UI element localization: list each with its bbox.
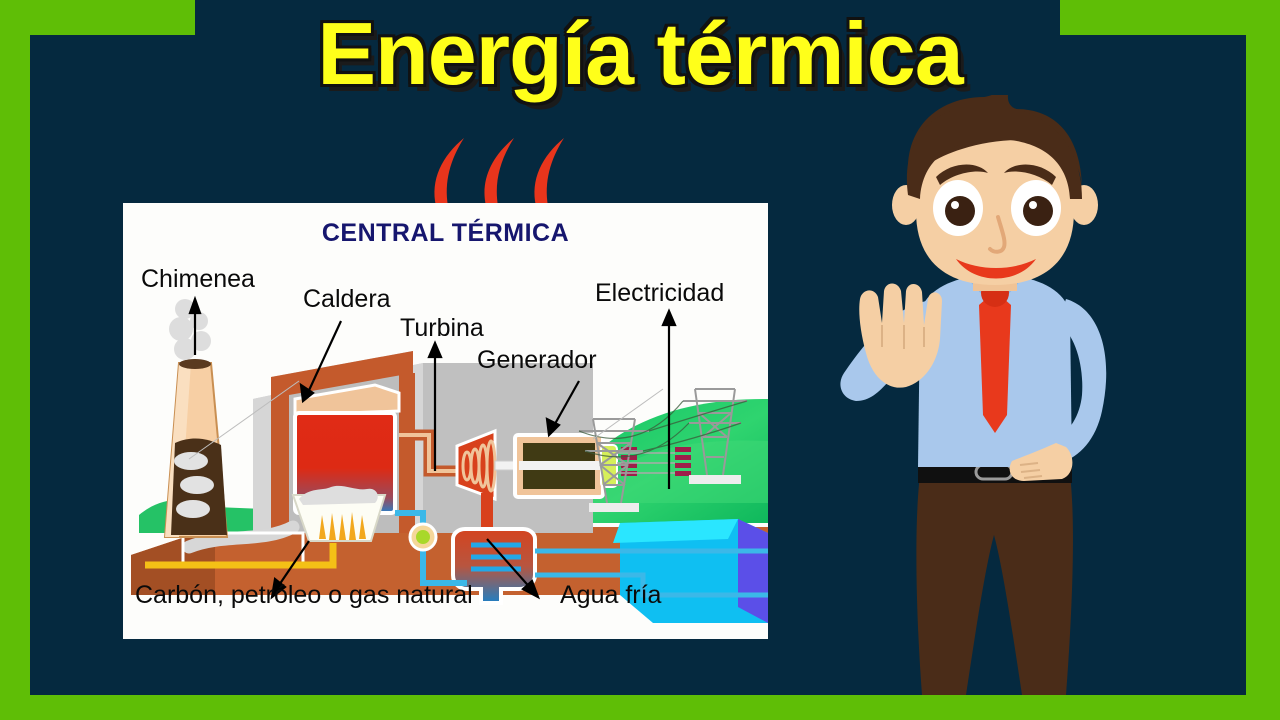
label-generador: Generador	[477, 348, 597, 373]
label-agua-fria: Agua fría	[560, 583, 661, 608]
page-title: Energía térmica	[0, 8, 1280, 100]
generator-rotor	[519, 461, 601, 470]
smoke-plume	[169, 299, 211, 360]
label-electricidad: Electricidad	[595, 281, 724, 306]
heat-wave-group	[428, 136, 588, 206]
heat-wave-icon	[484, 138, 514, 206]
diagram-heading: CENTRAL TÉRMICA	[123, 219, 768, 248]
heat-wave-icon	[434, 138, 464, 206]
tower-base	[689, 475, 741, 484]
thermal-plant-diagram: CENTRAL TÉRMICA Chimenea Caldera Turbina…	[123, 203, 768, 639]
pants	[916, 475, 1073, 695]
label-caldera: Caldera	[303, 287, 391, 312]
feed-pump-impeller	[416, 530, 430, 544]
pupil-left	[945, 196, 975, 226]
label-chimenea: Chimenea	[141, 267, 255, 292]
heat-wave-icon	[534, 138, 564, 206]
water-side	[738, 519, 768, 623]
eye-highlight-right	[1029, 201, 1037, 209]
tower-base	[589, 503, 639, 512]
label-combustible: Carbón, petróleo o gas natural	[135, 583, 473, 608]
slide-stage: Energía térmica	[0, 0, 1280, 720]
eye-highlight-left	[951, 201, 959, 209]
label-turbina: Turbina	[400, 316, 484, 341]
pupil-right	[1023, 196, 1053, 226]
chimney-opening	[179, 359, 211, 369]
avatar	[770, 95, 1200, 695]
boiler-frame-right	[399, 373, 415, 533]
necktie	[979, 291, 1011, 433]
